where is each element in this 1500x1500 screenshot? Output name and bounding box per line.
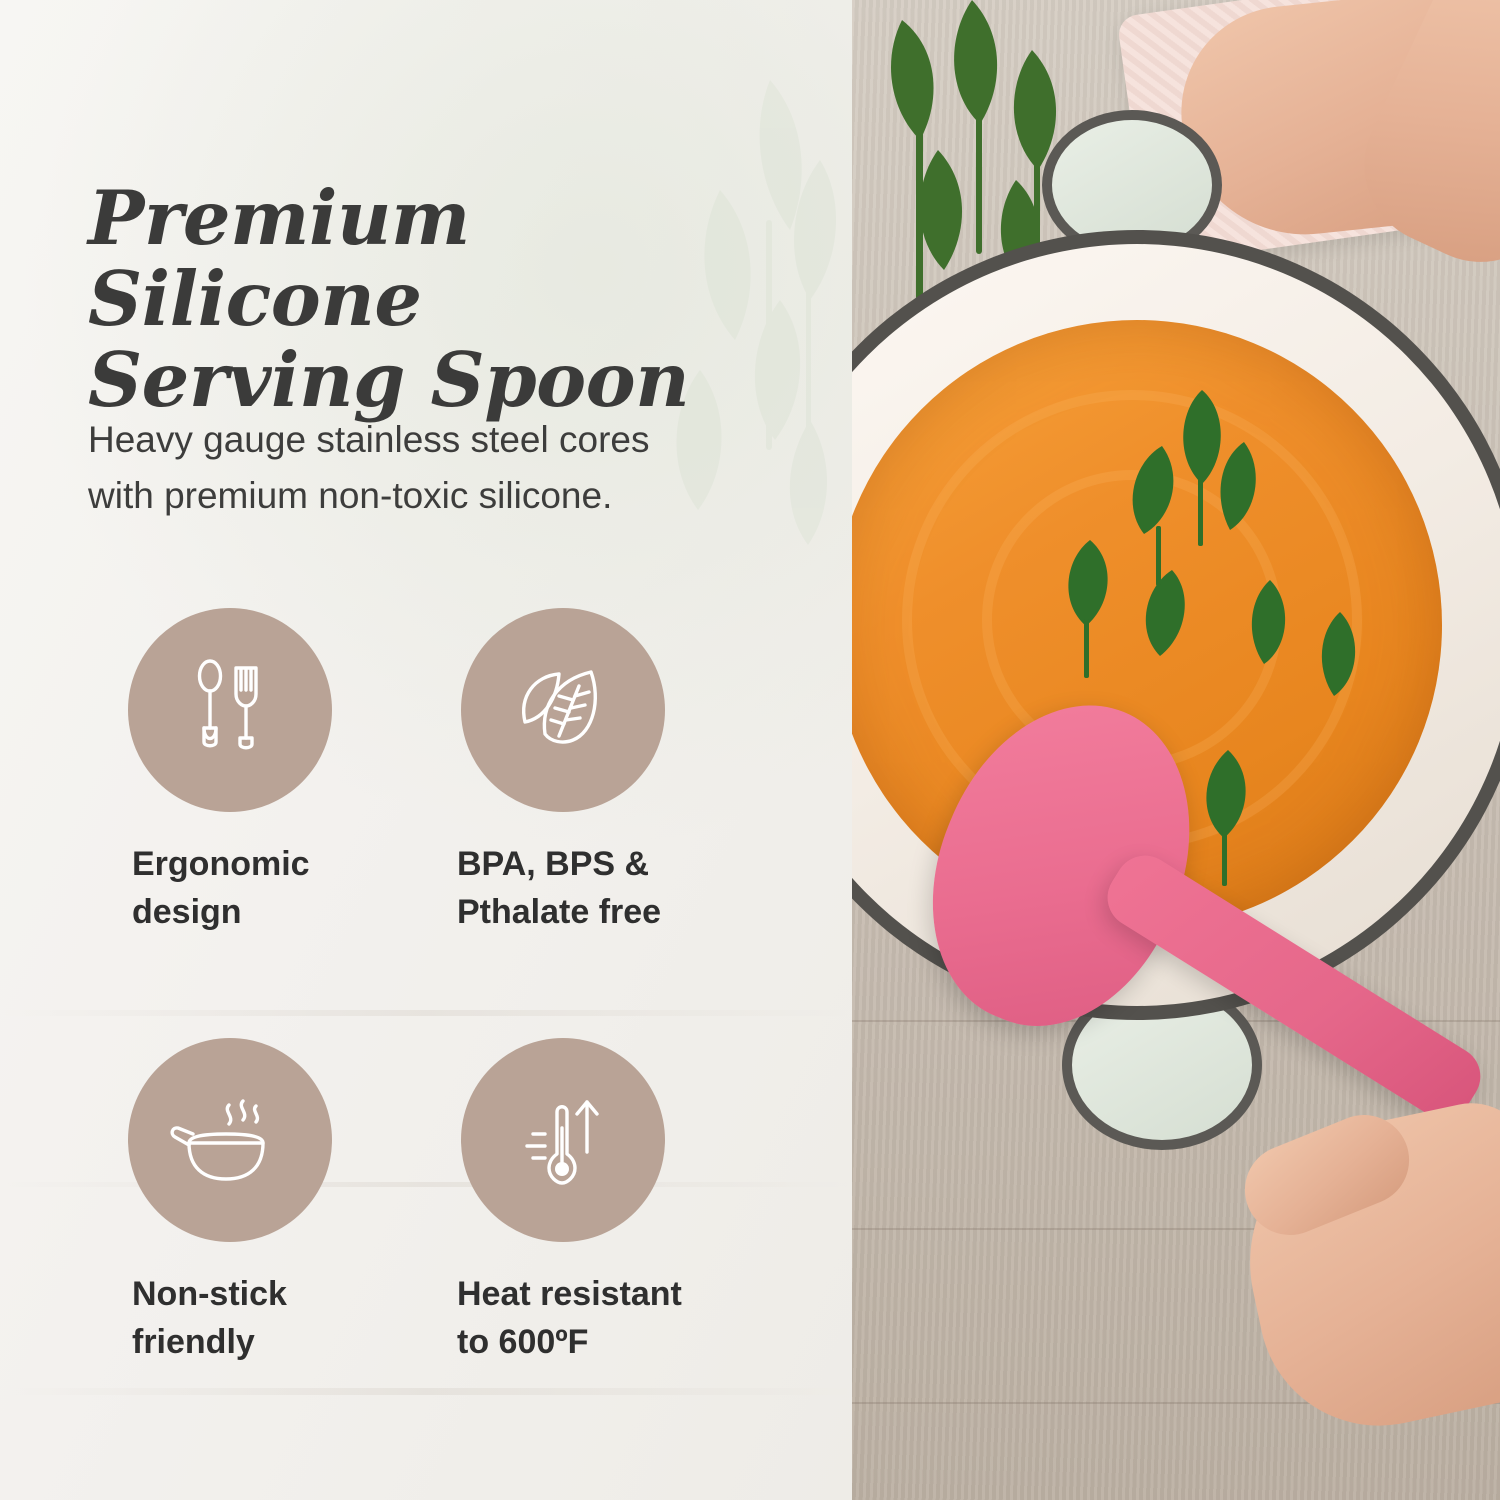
feature-icon-circle [461,608,665,812]
feature-item-heat-resistant: Heat resistant to 600ºF [453,1038,783,1367]
page-subtitle: Heavy gauge stainless steel cores with p… [88,412,788,523]
product-infographic: Premium Silicone Serving Spoon Heavy gau… [0,0,1500,1500]
page-title: Premium Silicone Serving Spoon [88,178,828,421]
frying-pan-icon [167,1077,293,1203]
feature-label: BPA, BPS & Pthalate free [457,840,783,937]
feature-label: Heat resistant to 600ºF [457,1270,783,1367]
feature-icon-circle [461,1038,665,1242]
feature-icon-circle [128,608,332,812]
leaf-icon [501,648,625,772]
feature-icon-circle [128,1038,332,1242]
feature-item-non-stick: Non-stick friendly [128,1038,458,1367]
surface-texture [0,1010,852,1016]
feature-label: Ergonomic design [132,840,458,937]
product-photo: Starpack [852,0,1500,1500]
thermometer-icon [501,1078,625,1202]
feature-item-bpa-free: BPA, BPS & Pthalate free [453,608,783,937]
surface-texture [0,1388,852,1395]
feature-label: Non-stick friendly [132,1270,458,1367]
left-content-panel: Premium Silicone Serving Spoon Heavy gau… [0,0,852,1500]
utensils-icon [170,650,290,770]
feature-item-ergonomic-design: Ergonomic design [128,608,458,937]
